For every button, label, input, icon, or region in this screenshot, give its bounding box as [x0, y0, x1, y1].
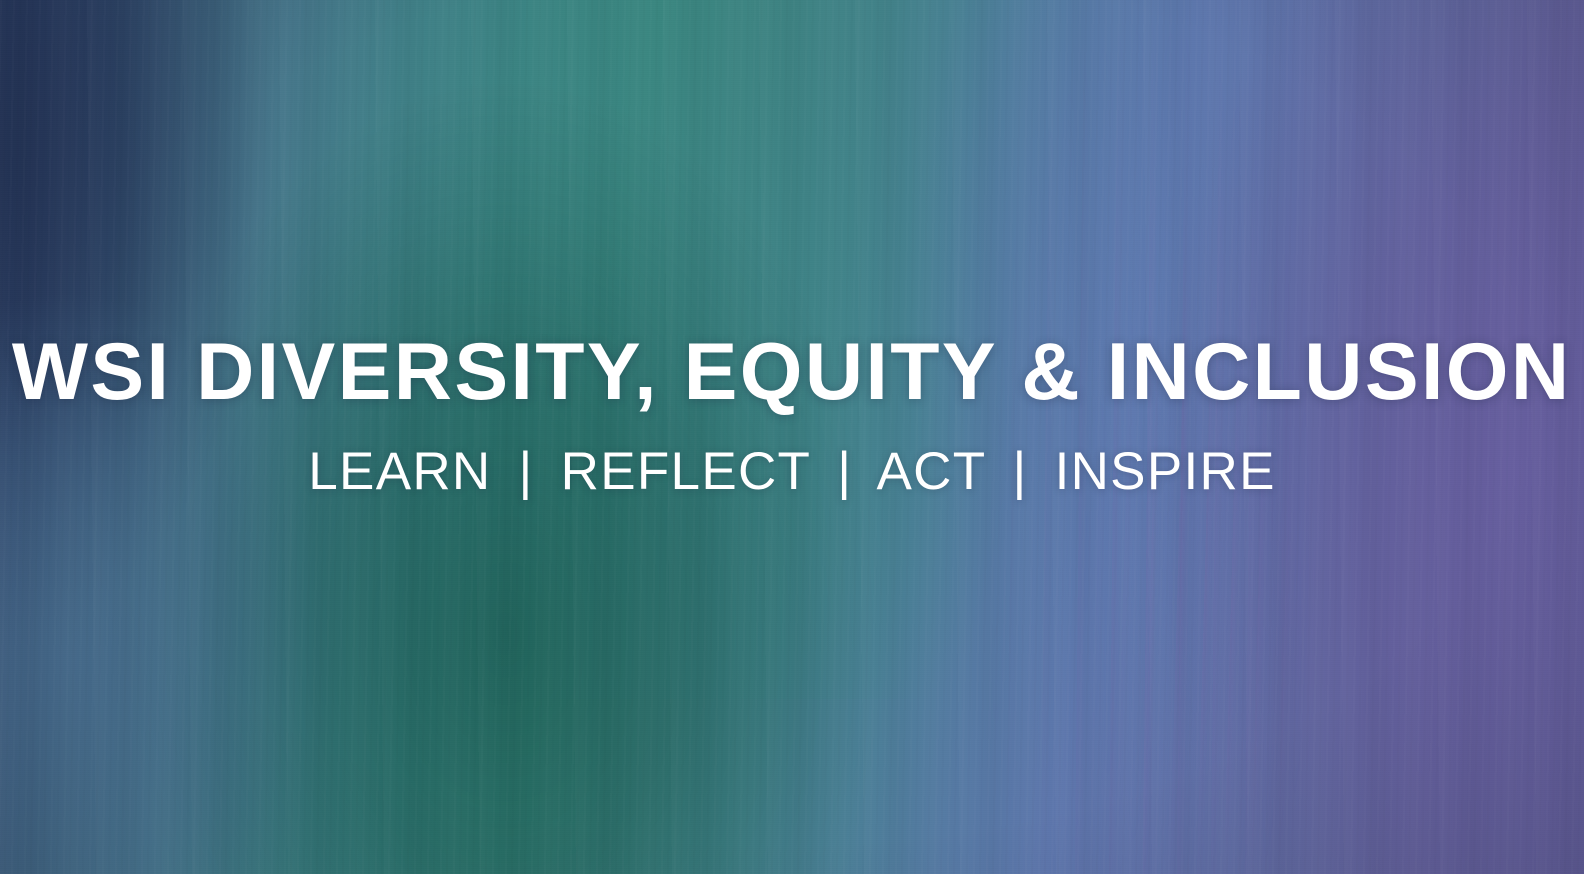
subtitle-word-reflect: REFLECT	[561, 442, 811, 501]
subtitle-word-act: ACT	[876, 442, 985, 501]
subtitle-word-learn: LEARN	[308, 442, 491, 501]
banner-content: WSI DIVERSITY, EQUITY & INCLUSION LEARN …	[0, 0, 1584, 874]
subtitle-word-inspire: INSPIRE	[1055, 442, 1276, 501]
subtitle-separator-2: |	[826, 442, 863, 501]
dei-banner: WSI DIVERSITY, EQUITY & INCLUSION LEARN …	[0, 0, 1584, 874]
subtitle-separator-1: |	[508, 442, 545, 501]
banner-headline: WSI DIVERSITY, EQUITY & INCLUSION	[12, 330, 1572, 414]
subtitle-separator-3: |	[1001, 442, 1038, 501]
banner-subtitle: LEARN | REFLECT | ACT | INSPIRE	[308, 444, 1275, 500]
